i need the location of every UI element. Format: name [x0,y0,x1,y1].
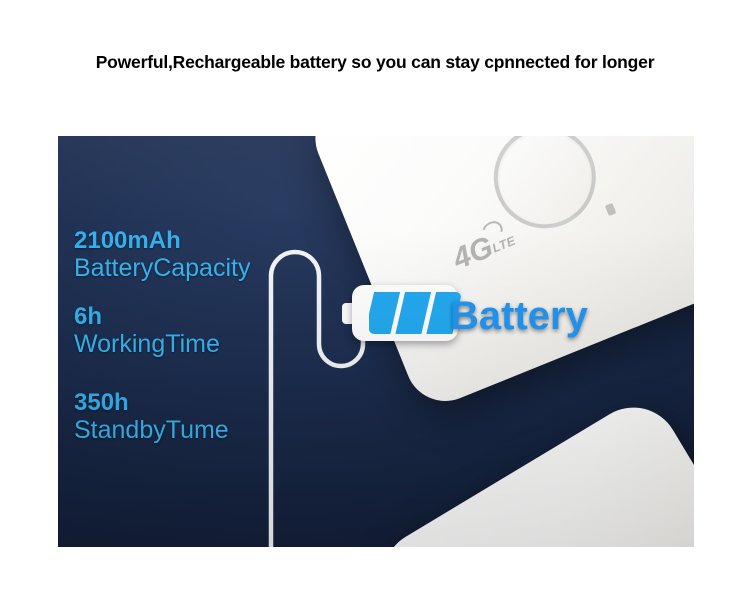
product-photo-panel: 4GLTE 4GLTE Battery 2100mAh Battery [58,136,694,547]
device-top-mifi-router: 4GLTE [303,136,694,413]
battery-charge-bars [369,292,461,334]
battery-icon [342,285,458,341]
spec-standby-time: 350h StandbyTume [74,390,229,443]
spec-working-time: 6h WorkingTime [74,304,220,357]
page-title: Powerful,Rechargeable battery so you can… [0,52,750,73]
device-bottom-mifi-router: 4GLTE [366,390,694,547]
battery-label: Battery [450,294,588,339]
device-bottom-body [366,390,694,547]
spec-capacity-value: 2100mAh [74,228,250,253]
spec-standby-value: 350h [74,390,229,415]
spec-standby-label: StandbyTume [74,417,229,443]
spec-capacity-label: BatteryCapacity [74,255,250,281]
battery-shell [352,285,458,341]
spec-battery-capacity: 2100mAh BatteryCapacity [74,228,250,281]
spec-working-value: 6h [74,304,220,329]
spec-working-label: WorkingTime [74,331,220,357]
